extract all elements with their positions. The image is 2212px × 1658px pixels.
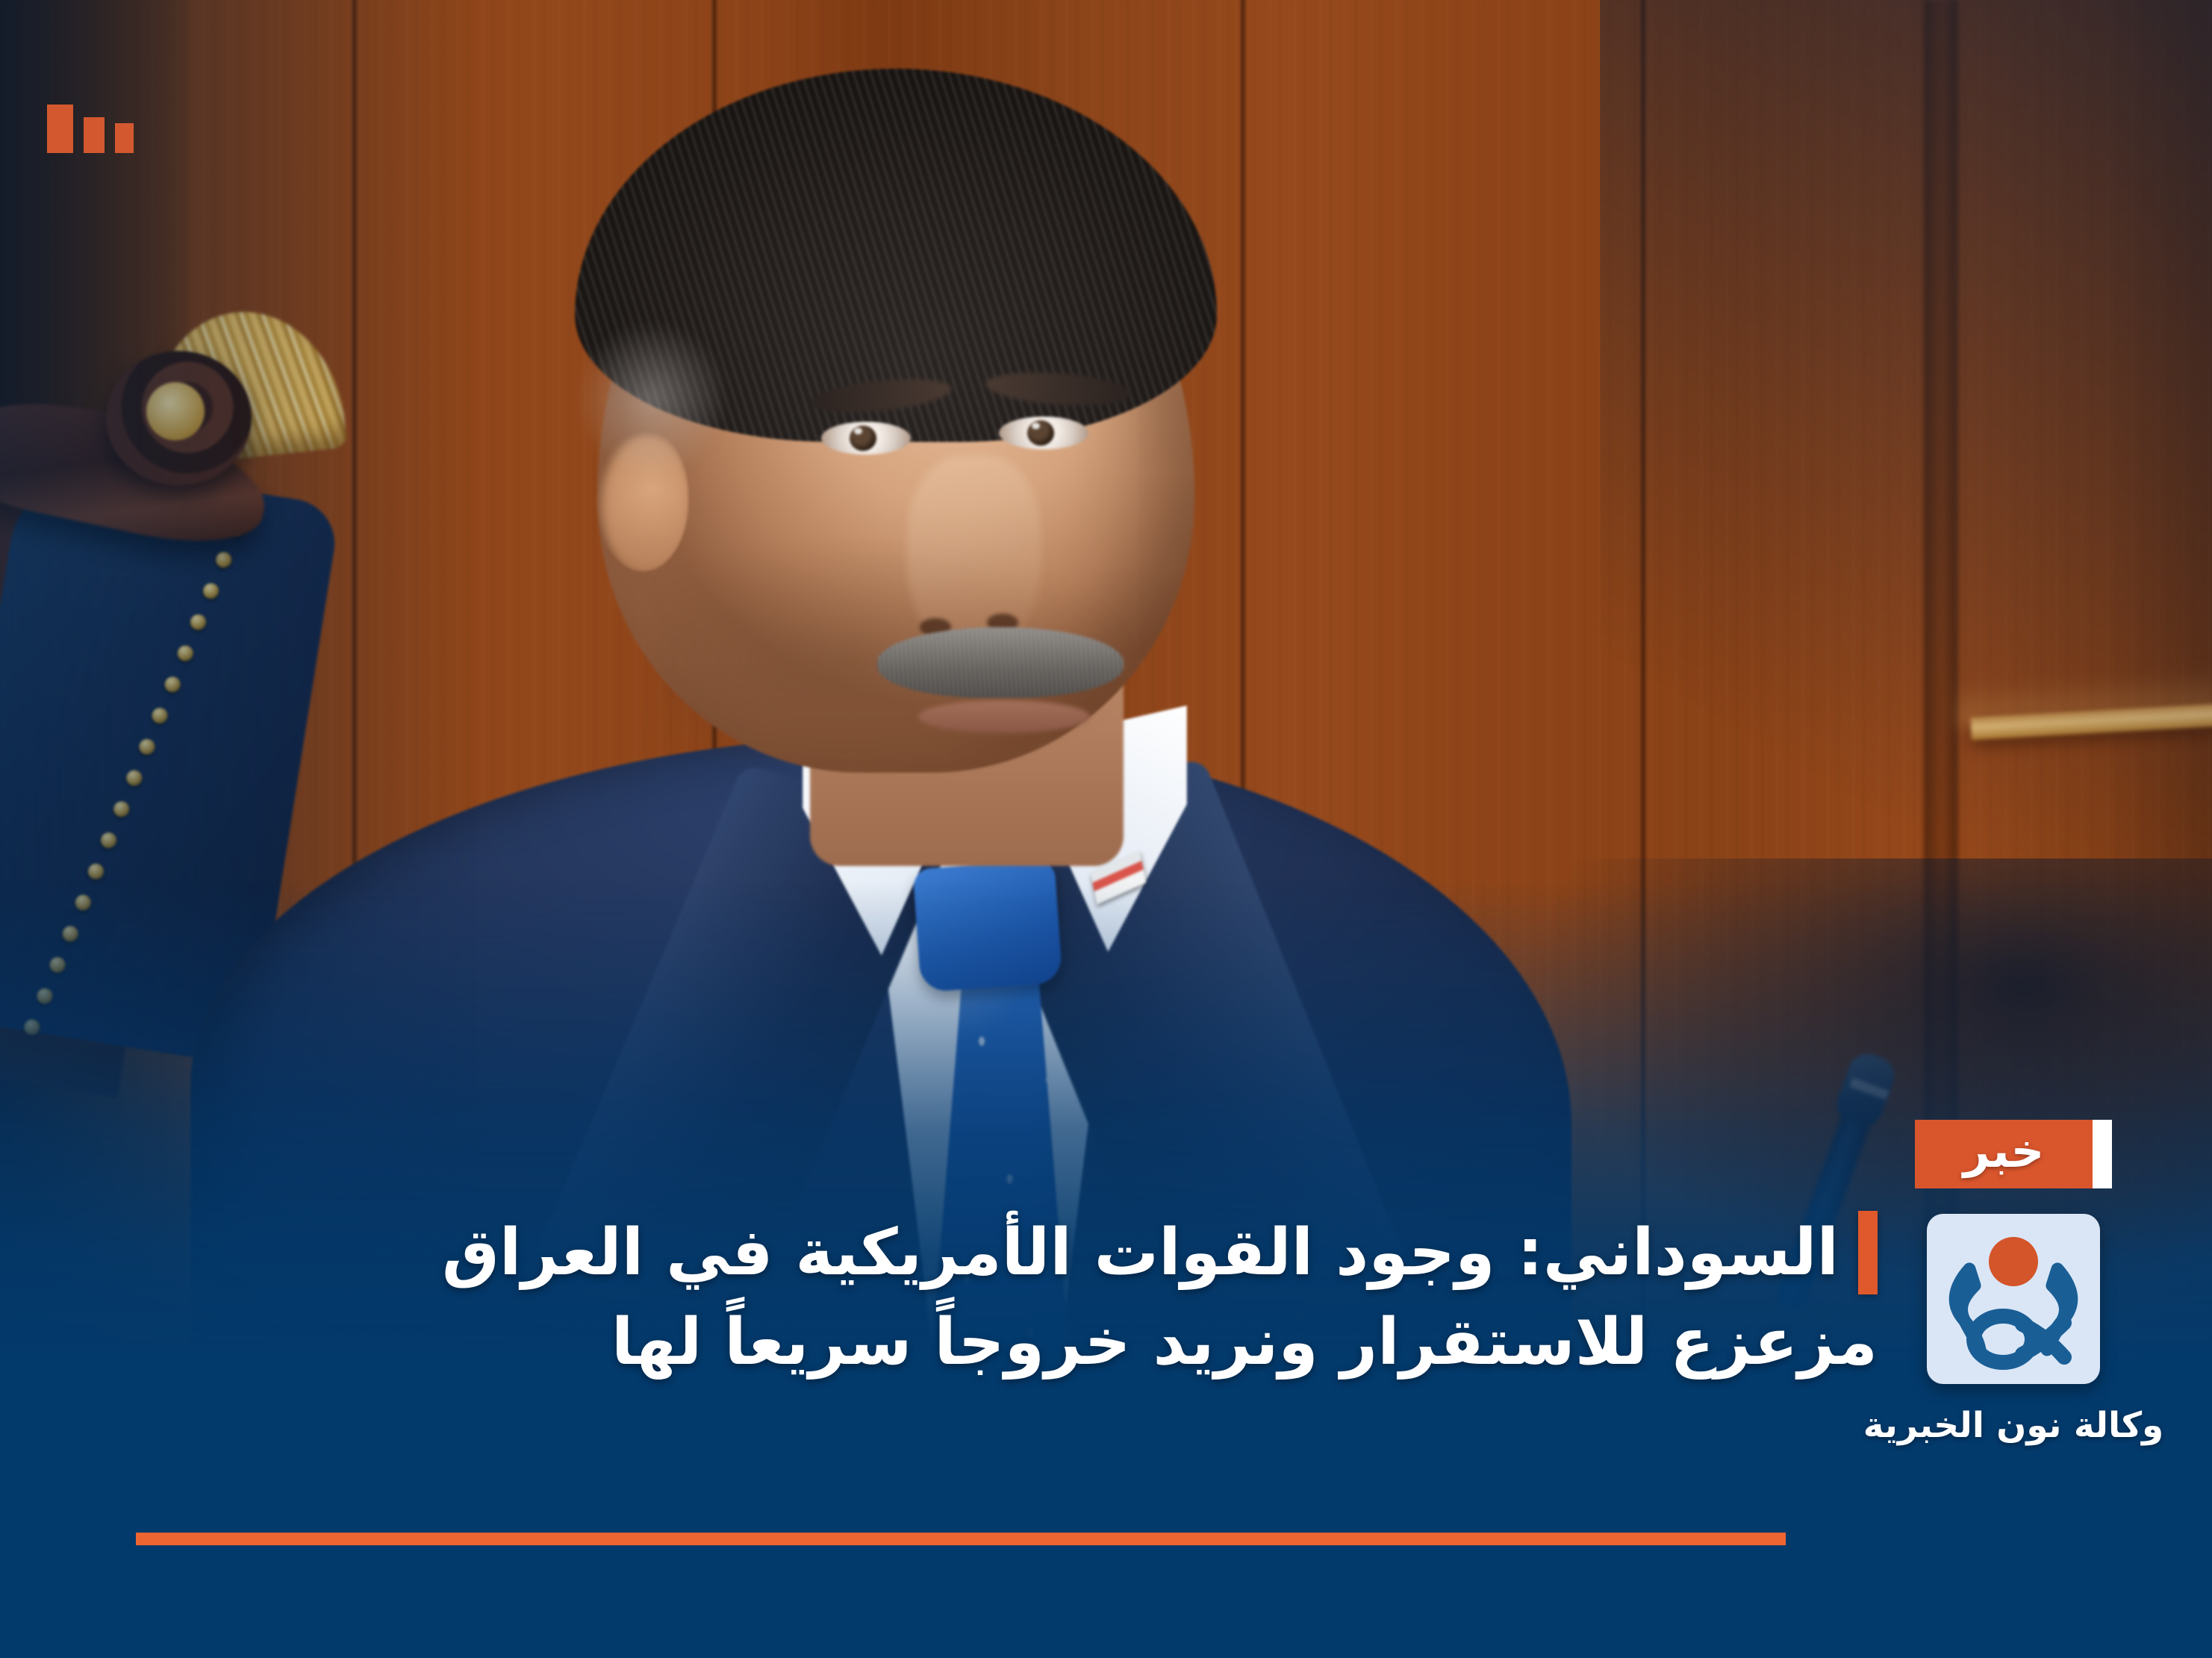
mark-bar-3: [115, 123, 134, 153]
headline-line2-row: مزعزع للاستقرار ونريد خروجاً سريعاً لها: [243, 1297, 1878, 1387]
greying-temple: [581, 314, 723, 485]
brand-name: وكالة نون الخبرية: [1863, 1405, 2164, 1446]
headline-underline-rule: [136, 1533, 1786, 1545]
headline-block: السوداني: وجود القوات الأمريكية في العرا…: [243, 1208, 1878, 1388]
headline-line1-row: السوداني: وجود القوات الأمريكية في العرا…: [243, 1208, 1878, 1297]
noon-agency-logo: [1927, 1214, 2100, 1384]
news-badge: خبر: [1915, 1120, 2112, 1188]
lower-lip: [918, 700, 1090, 733]
mark-bar-2: [84, 117, 105, 153]
noon-agency-logo-icon: [1939, 1226, 2088, 1372]
news-badge-label: خبر: [1915, 1120, 2093, 1188]
news-graphic-card: السوداني: وجود القوات الأمريكية في العرا…: [0, 0, 2212, 1658]
headline-line-2: مزعزع للاستقرار ونريد خروجاً سريعاً لها: [611, 1297, 1878, 1387]
brand-block: خبر وكالة نون الخبرية: [1857, 1120, 2170, 1446]
eye-right: [999, 417, 1088, 449]
three-bars-mark: [47, 105, 134, 153]
headline-line-1: السوداني: وجود القوات الأمريكية في العرا…: [442, 1208, 1839, 1297]
eye-left: [821, 422, 911, 455]
mark-bar-1: [47, 105, 73, 153]
moustache: [877, 627, 1124, 698]
news-badge-tick: [2093, 1120, 2112, 1188]
